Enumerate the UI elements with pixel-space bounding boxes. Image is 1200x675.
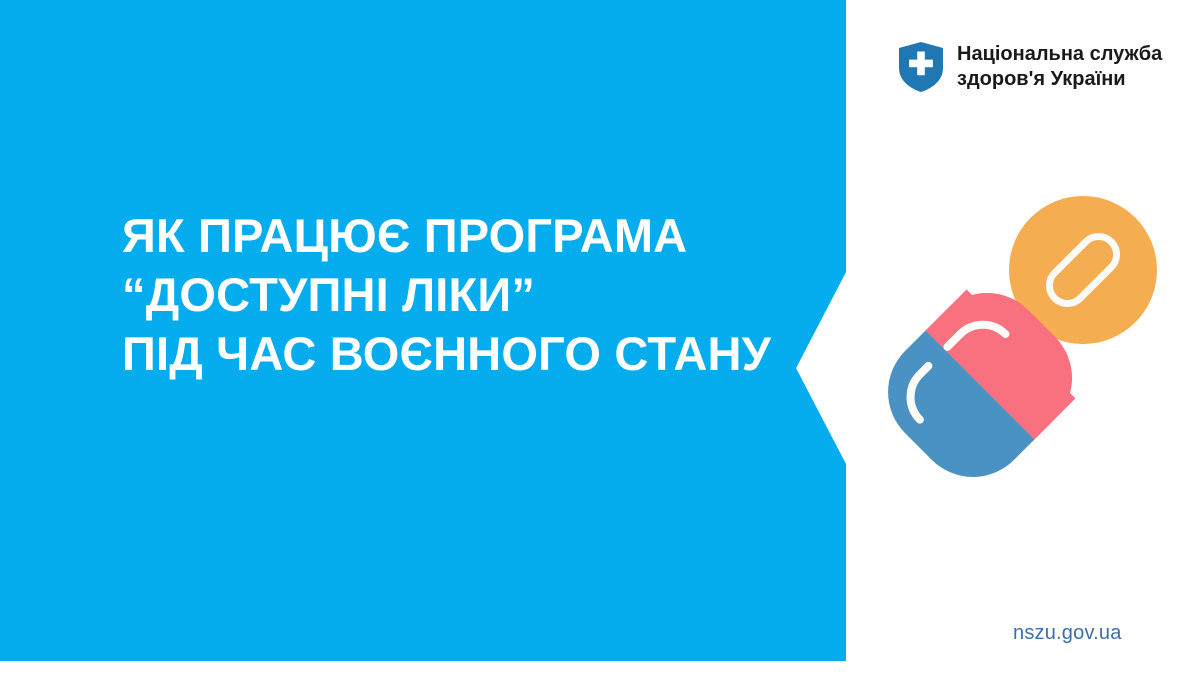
- medicine-illustration: [860, 180, 1190, 510]
- logo-text-line-2: здоров'я України: [957, 67, 1162, 92]
- slide-canvas: ЯК ПРАЦЮЄ ПРОГРАМА “ДОСТУПНІ ЛІКИ” ПІД Ч…: [0, 0, 1200, 675]
- nszu-logo: Національна служба здоров'я України: [899, 42, 1162, 92]
- headline-line-2: “ДОСТУПНІ ЛІКИ”: [122, 265, 762, 324]
- page-title: ЯК ПРАЦЮЄ ПРОГРАМА “ДОСТУПНІ ЛІКИ” ПІД Ч…: [122, 206, 762, 383]
- shield-cross-icon: [899, 42, 943, 92]
- logo-text-line-1: Національна служба: [957, 42, 1162, 67]
- headline-line-3: ПІД ЧАС ВОЄННОГО СТАНУ: [122, 324, 762, 383]
- site-url[interactable]: nszu.gov.ua: [1013, 622, 1122, 645]
- headline-line-1: ЯК ПРАЦЮЄ ПРОГРАМА: [122, 206, 762, 265]
- logo-wordmark: Національна служба здоров'я України: [957, 42, 1162, 92]
